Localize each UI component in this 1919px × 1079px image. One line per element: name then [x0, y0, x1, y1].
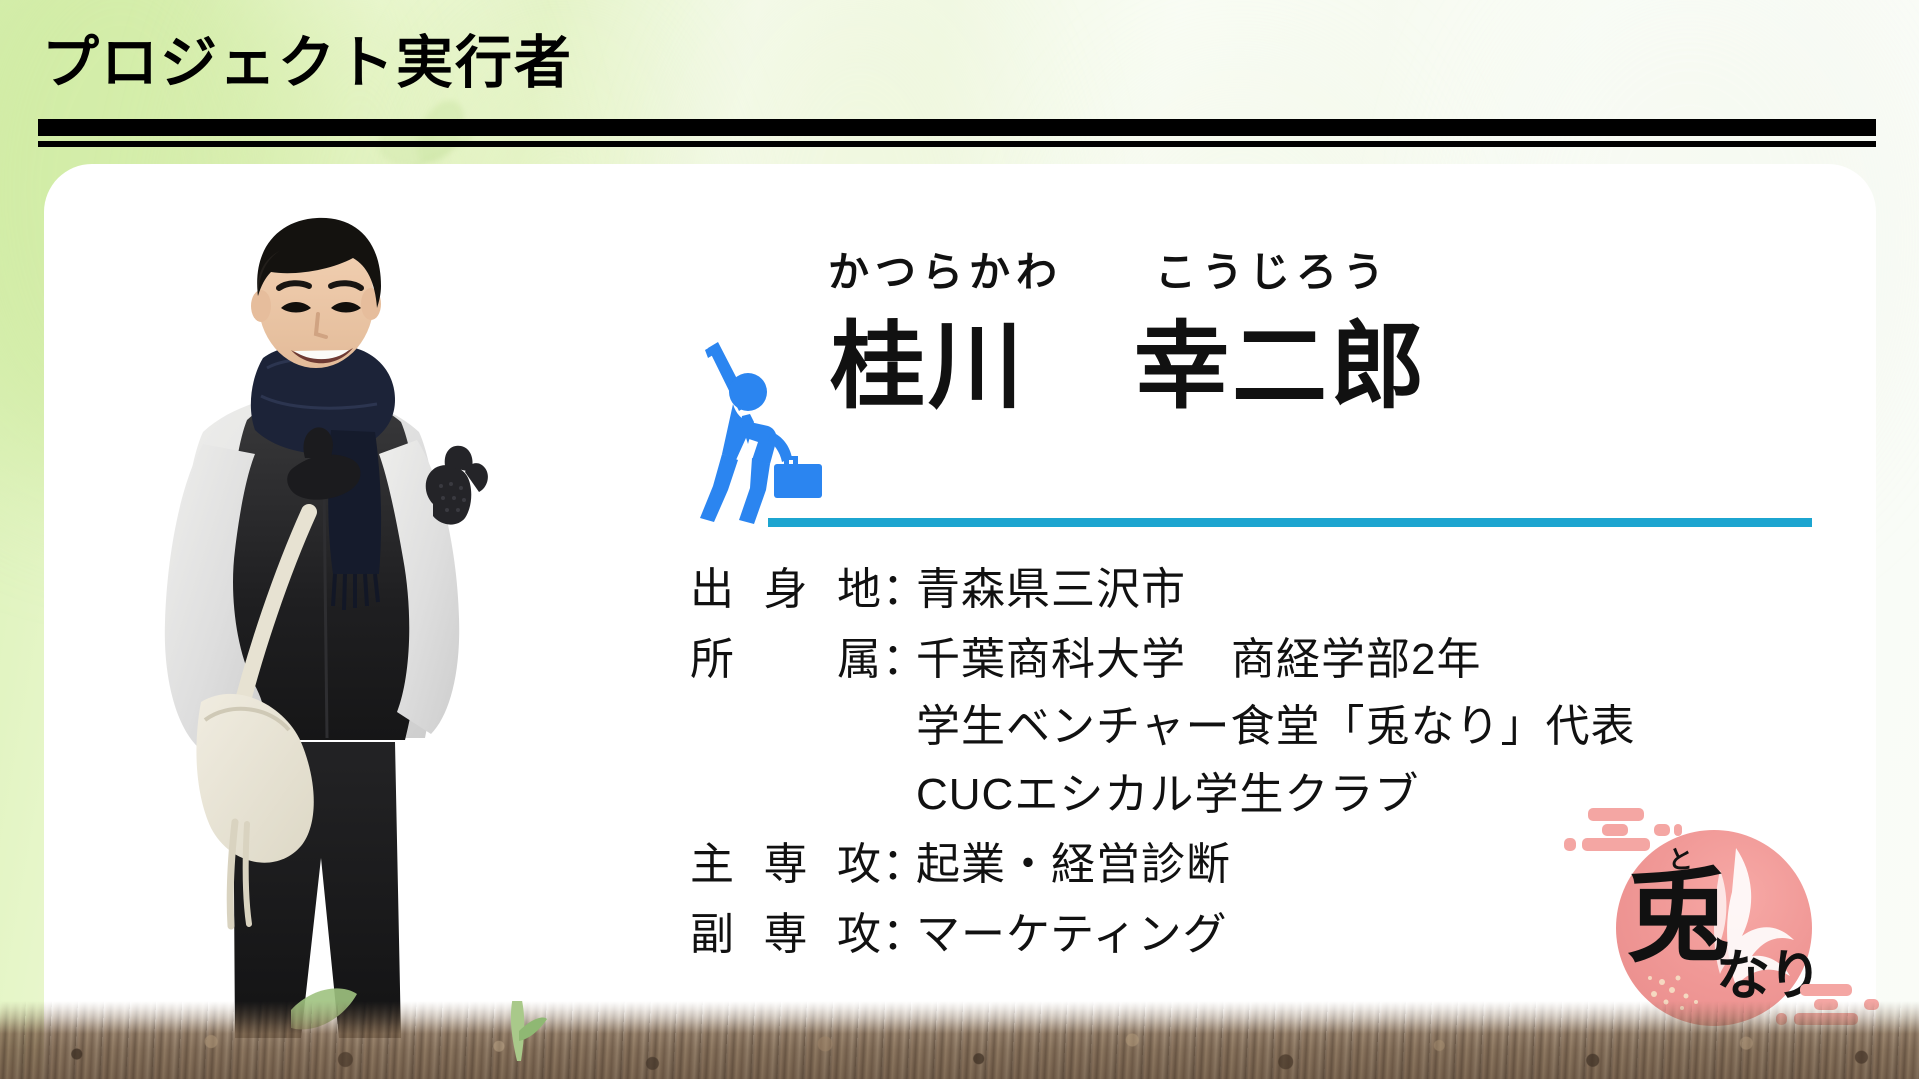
furigana-family: かつらかわ [828, 238, 1063, 298]
detail-colon: ： [882, 560, 916, 621]
detail-value: 青森県三沢市 [916, 560, 1870, 621]
detail-label: 主 専 攻 [690, 835, 882, 896]
slide-root: プロジェクト実行者 [0, 0, 1919, 1079]
detail-label: 所 属 [690, 630, 882, 691]
detail-row-affiliation: 所 属 ： 千葉商科大学 商経学部2年 [690, 630, 1870, 691]
detail-label: 出 身 地 [690, 560, 882, 621]
detail-value: 千葉商科大学 商経学部2年 [916, 630, 1870, 691]
person-photo [95, 182, 525, 1044]
furigana-given: こうじろう [1155, 238, 1390, 298]
businessman-icon [692, 338, 832, 530]
detail-row-affiliation-cont: 学生ベンチャー食堂「兎なり」代表 [690, 697, 1870, 758]
detail-value: 学生ベンチャー食堂「兎なり」代表 [916, 697, 1870, 758]
name-underline [768, 518, 1812, 527]
detail-colon: ： [882, 905, 916, 966]
soil-strip [0, 1001, 1919, 1079]
logo-kanji: 兎 [1626, 864, 1730, 968]
divider-thick [38, 119, 1876, 136]
divider-thin [38, 141, 1876, 147]
sprout-icon [487, 1001, 549, 1061]
name-family: 桂川 [830, 290, 1026, 427]
detail-label: 副 専 攻 [690, 905, 882, 966]
detail-row-affiliation-cont: CUCエシカル学生クラブ [690, 765, 1870, 826]
page-title: プロジェクト実行者 [42, 34, 573, 93]
detail-colon: ： [882, 630, 916, 691]
soil-crumbs [0, 1001, 1919, 1079]
name-given: 幸二郎 [1134, 290, 1428, 427]
name-furigana: かつらかわ こうじろう [828, 238, 1390, 298]
detail-value: CUCエシカル学生クラブ [916, 765, 1870, 826]
full-name: 桂川 幸二郎 [830, 290, 1428, 427]
detail-colon: ： [882, 835, 916, 896]
detail-row-origin: 出 身 地 ： 青森県三沢市 [690, 560, 1870, 621]
